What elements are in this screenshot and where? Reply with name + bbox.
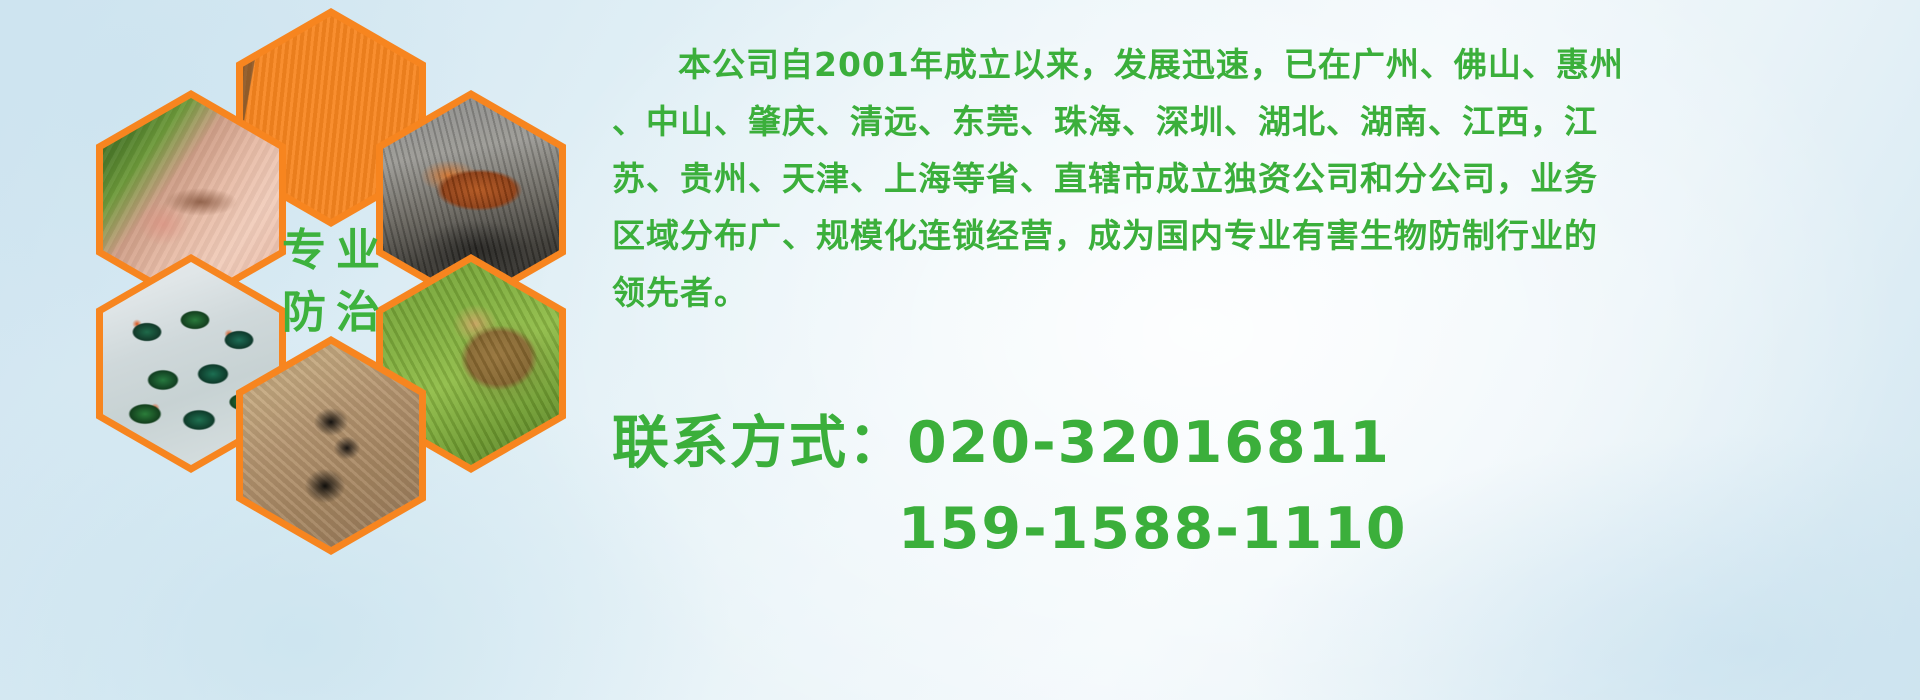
- contact-phone-mobile[interactable]: 159-1588-1110: [898, 496, 1408, 562]
- description-line-3: 苏、贵州、天津、上海等省、直辖市成立独资公司和分公司，业务: [612, 150, 1912, 207]
- slogan-line-2: 防治: [272, 291, 390, 335]
- description-line-4: 区域分布广、规模化连锁经营，成为国内专业有害生物防制行业的: [612, 207, 1912, 264]
- company-description: 本公司自2001年成立以来，发展迅速，已在广州、佛山、惠州 、中山、肇庆、清远、…: [612, 36, 1912, 321]
- contact-phone-landline[interactable]: 020-32016811: [907, 410, 1391, 476]
- contact-block: 联系方式：020-32016811 159-1588-1110: [612, 400, 1912, 572]
- contact-landline-line: 联系方式：020-32016811: [612, 400, 1912, 486]
- honeycomb-photo-cluster: 专业 防治: [88, 8, 588, 578]
- pest-control-banner: 专业 防治 本公司自2001年成立以来，发展迅速，已在广州、佛山、惠州 、中山、…: [0, 0, 1920, 700]
- contact-label: 联系方式：: [612, 410, 907, 476]
- contact-mobile-line: 159-1588-1110: [612, 486, 1912, 572]
- description-line-1: 本公司自2001年成立以来，发展迅速，已在广州、佛山、惠州: [612, 36, 1912, 93]
- description-line-5: 领先者。: [612, 264, 1912, 321]
- slogan-line-1: 专业: [272, 229, 390, 273]
- description-line-2: 、中山、肇庆、清远、东莞、珠海、深圳、湖北、湖南、江西，江: [612, 93, 1912, 150]
- honeycomb-center-slogan: 专业 防治: [236, 172, 426, 391]
